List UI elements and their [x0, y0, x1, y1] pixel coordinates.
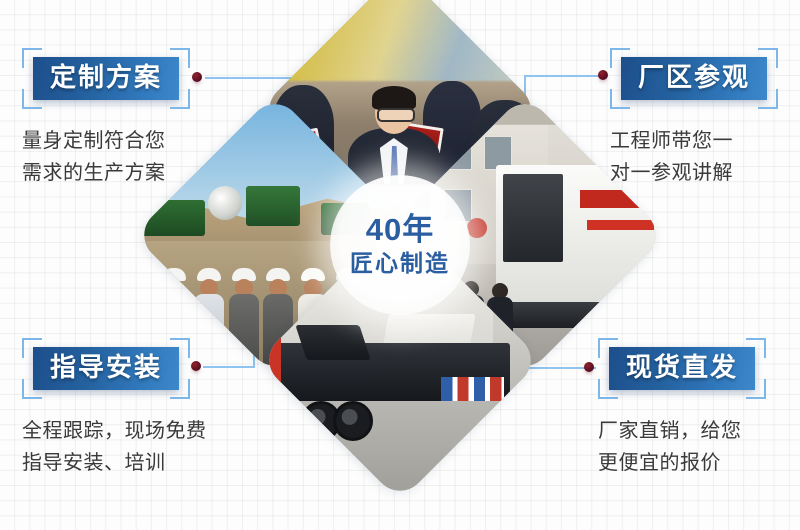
feature-desc-line: 需求的生产方案 — [22, 157, 190, 189]
bracket-corner-icon — [22, 89, 42, 109]
feature-custom-solution: 定制方案 量身定制符合您 需求的生产方案 — [22, 48, 190, 189]
badge-wrap-in-stock-direct-shipping: 现货直发 — [598, 338, 766, 399]
bracket-corner-icon — [22, 48, 42, 68]
bracket-corner-icon — [746, 338, 766, 358]
badge-wrap-guided-installation: 指导安装 — [22, 338, 190, 399]
feature-desc-guided-installation: 全程跟踪，现场免费 指导安装、培训 — [22, 415, 207, 479]
bracket-corner-icon — [598, 379, 618, 399]
feature-desc-line: 更便宜的报价 — [598, 447, 766, 479]
feature-desc-line: 指导安装、培训 — [22, 447, 207, 479]
badge-wrap-factory-visit: 厂区参观 — [610, 48, 778, 109]
bracket-corner-icon — [598, 338, 618, 358]
bracket-corner-icon — [170, 338, 190, 358]
feature-desc-line: 工程师带您一 — [610, 125, 778, 157]
bracket-corner-icon — [170, 48, 190, 68]
feature-factory-visit: 厂区参观 工程师带您一 对一参观讲解 — [610, 48, 778, 189]
feature-desc-line: 对一参观讲解 — [610, 157, 778, 189]
bracket-corner-icon — [170, 379, 190, 399]
bracket-corner-icon — [22, 338, 42, 358]
feature-desc-line: 量身定制符合您 — [22, 125, 190, 157]
badge-wrap-custom-solution: 定制方案 — [22, 48, 190, 109]
feature-desc-in-stock-direct-shipping: 厂家直销，给您 更便宜的报价 — [598, 415, 766, 479]
feature-desc-line: 厂家直销，给您 — [598, 415, 766, 447]
feature-badge-factory-visit[interactable]: 厂区参观 — [621, 57, 767, 100]
bracket-corner-icon — [610, 48, 630, 68]
bracket-corner-icon — [758, 48, 778, 68]
bracket-corner-icon — [610, 89, 630, 109]
feature-desc-factory-visit: 工程师带您一 对一参观讲解 — [610, 125, 778, 189]
feature-badge-custom-solution[interactable]: 定制方案 — [33, 57, 179, 100]
feature-in-stock-direct-shipping: 现货直发 厂家直销，给您 更便宜的报价 — [598, 338, 766, 479]
bracket-corner-icon — [746, 379, 766, 399]
center-slogan: 匠心制造 — [350, 250, 450, 276]
feature-desc-line: 全程跟踪，现场免费 — [22, 415, 207, 447]
center-years: 40年 — [366, 214, 434, 247]
infographic-canvas: 40年 匠心制造 定制方案 量身定制符合您 需求的生产方案 厂区参观 工程师带您… — [0, 0, 800, 530]
feature-badge-in-stock-direct-shipping[interactable]: 现货直发 — [609, 347, 755, 390]
bracket-corner-icon — [170, 89, 190, 109]
center-emblem: 40年 匠心制造 — [330, 175, 470, 315]
feature-guided-installation: 指导安装 全程跟踪，现场免费 指导安装、培训 — [22, 338, 207, 479]
bracket-corner-icon — [22, 379, 42, 399]
feature-badge-guided-installation[interactable]: 指导安装 — [33, 347, 179, 390]
feature-desc-custom-solution: 量身定制符合您 需求的生产方案 — [22, 125, 190, 189]
bracket-corner-icon — [758, 89, 778, 109]
